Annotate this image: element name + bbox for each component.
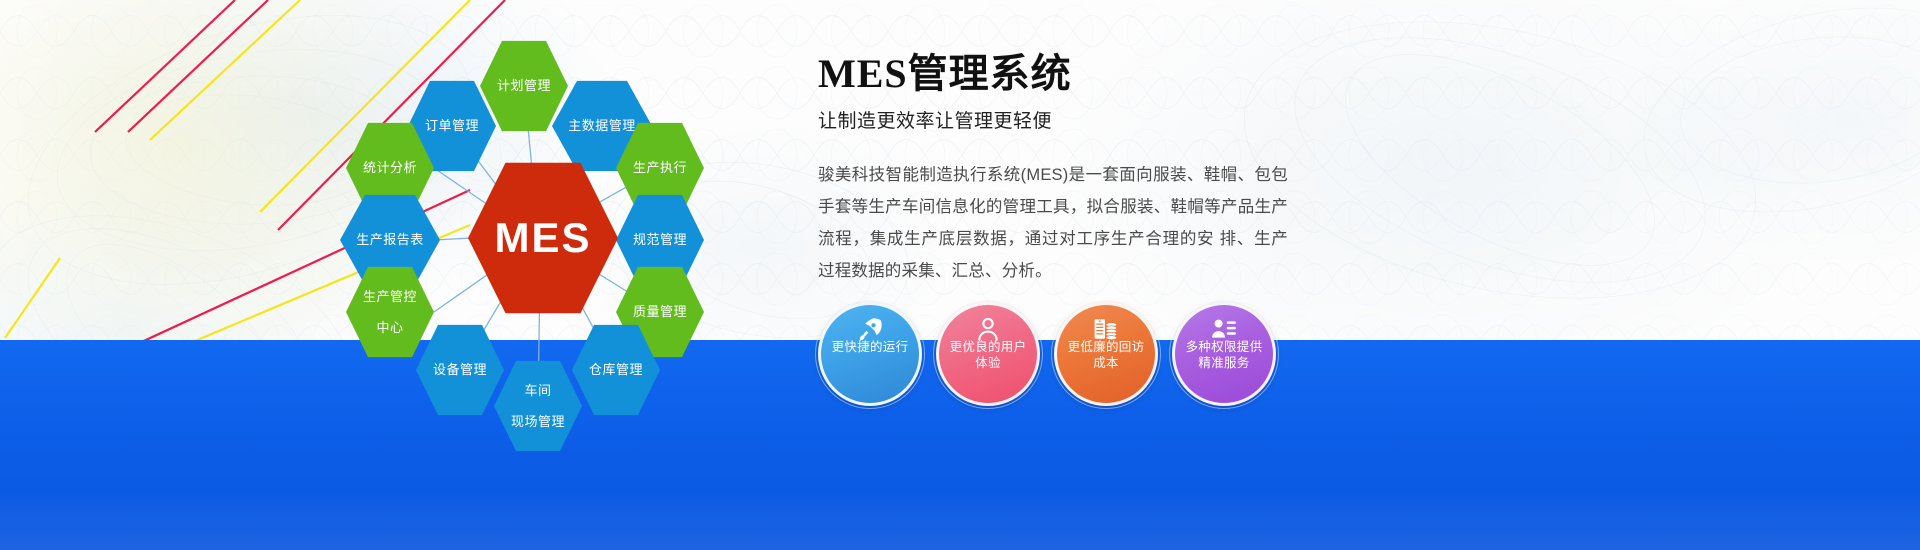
page-description: 骏美科技智能制造执行系统(MES)是一套面向服装、鞋帽、包包手套等生产车间信息化… xyxy=(818,159,1288,287)
badge-faster-operation[interactable]: 更快捷的运行 xyxy=(818,302,922,406)
hex-label-order: 订单管理 xyxy=(421,118,483,133)
svg-text:¥: ¥ xyxy=(1098,319,1101,325)
rocket-icon xyxy=(857,316,883,342)
hex-label-quality: 质量管理 xyxy=(629,304,691,319)
badge-permission-service[interactable]: 多种权限提供精准服务 xyxy=(1172,302,1276,406)
badge-label-better-experience: 更优良的用户体验 xyxy=(939,339,1037,371)
mes-banner: 计划管理 订单管理 主数据管理 统计分析 生产执行 生产报告表 规范管理 生产管… xyxy=(0,0,1920,550)
hex-label-control-center-line1: 生产管控 xyxy=(359,289,421,304)
permission-icon xyxy=(1211,316,1237,342)
hex-label-standard: 规范管理 xyxy=(629,232,691,247)
page-title: MES管理系统 xyxy=(818,52,1288,96)
hex-label-workshop-line2: 现场管理 xyxy=(507,414,569,429)
badge-lower-cost[interactable]: ¥ 更低廉的回访成本 xyxy=(1054,302,1158,406)
hex-label-control-center-line2: 中心 xyxy=(359,320,421,335)
user-icon xyxy=(975,316,1001,342)
hex-label-equipment: 设备管理 xyxy=(429,362,491,377)
hex-label-workshop-line1: 车间 xyxy=(507,383,569,398)
hex-label-statistics: 统计分析 xyxy=(359,160,421,175)
info-block: MES管理系统 让制造更效率让管理更轻便 骏美科技智能制造执行系统(MES)是一… xyxy=(818,52,1288,287)
feature-badges: 更快捷的运行 更优良的用户体验 ¥ xyxy=(818,302,1276,406)
badge-better-experience[interactable]: 更优良的用户体验 xyxy=(936,302,1040,406)
hex-label-production: 生产执行 xyxy=(629,160,691,175)
mes-hexagon-diagram: 计划管理 订单管理 主数据管理 统计分析 生产执行 生产报告表 规范管理 生产管… xyxy=(330,10,800,450)
badge-label-permission-service: 多种权限提供精准服务 xyxy=(1175,339,1273,371)
hex-label-production-report: 生产报告表 xyxy=(352,232,428,247)
hex-label-workshop: 车间 现场管理 xyxy=(503,383,573,429)
hex-label-control-center: 生产管控 中心 xyxy=(355,289,425,335)
hex-label-masterdata: 主数据管理 xyxy=(564,118,640,133)
hex-label-warehouse: 仓库管理 xyxy=(585,362,647,377)
hex-label-mes: MES xyxy=(490,213,595,263)
page-subtitle: 让制造更效率让管理更轻便 xyxy=(818,106,1288,133)
badge-label-lower-cost: 更低廉的回访成本 xyxy=(1057,339,1155,371)
money-icon: ¥ xyxy=(1093,316,1119,342)
hex-label-plan: 计划管理 xyxy=(493,78,555,93)
